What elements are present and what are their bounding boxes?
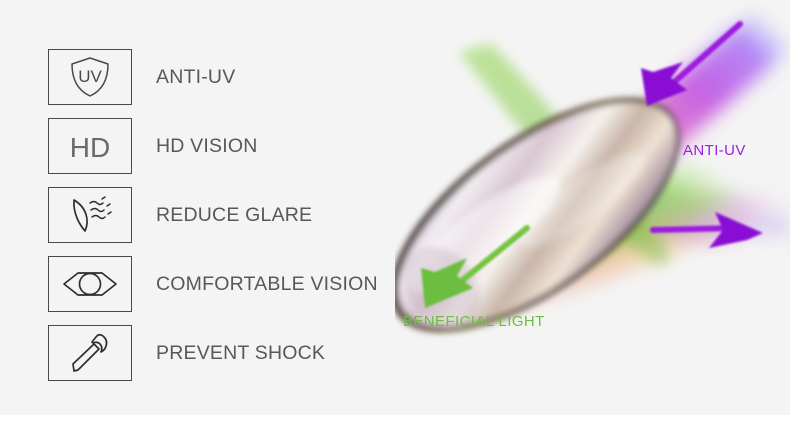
beneficial-light-beam-label: BENEFICIAL LIGHT: [403, 313, 545, 330]
lens-light-illustration: ANTI-UV BENEFICIAL LIGHT: [395, 0, 790, 415]
feature-label-reduce-glare: REDUCE GLARE: [156, 204, 312, 227]
eye-icon: [61, 268, 119, 300]
uv-shield-icon: UV: [67, 55, 113, 99]
feature-label-hd-vision: HD VISION: [156, 135, 257, 158]
hd-text-icon: HD: [63, 126, 117, 166]
feature-item-anti-uv: UV ANTI-UV: [48, 48, 408, 106]
feature-list: UV ANTI-UV HD HD VISION: [48, 48, 408, 393]
hammer-icon: [67, 331, 113, 375]
icon-box-prevent-shock: [48, 325, 132, 381]
feature-item-reduce-glare: REDUCE GLARE: [48, 186, 408, 244]
feature-item-comfortable-vision: COMFORTABLE VISION: [48, 255, 408, 313]
feature-item-prevent-shock: PREVENT SHOCK: [48, 324, 408, 382]
icon-box-reduce-glare: [48, 187, 132, 243]
feature-label-prevent-shock: PREVENT SHOCK: [156, 342, 325, 365]
feature-label-comfortable-vision: COMFORTABLE VISION: [156, 273, 378, 296]
feature-label-anti-uv: ANTI-UV: [156, 66, 235, 89]
lens-features-infographic: UV ANTI-UV HD HD VISION: [0, 0, 790, 415]
icon-box-anti-uv: UV: [48, 49, 132, 105]
svg-text:HD: HD: [70, 132, 110, 163]
glare-deflection-icon: [64, 194, 116, 236]
svg-text:UV: UV: [78, 67, 102, 86]
anti-uv-beam-label: ANTI-UV: [683, 142, 746, 159]
feature-item-hd-vision: HD HD VISION: [48, 117, 408, 175]
icon-box-hd-vision: HD: [48, 118, 132, 174]
icon-box-comfortable-vision: [48, 256, 132, 312]
bottom-white-strip: [0, 415, 790, 440]
